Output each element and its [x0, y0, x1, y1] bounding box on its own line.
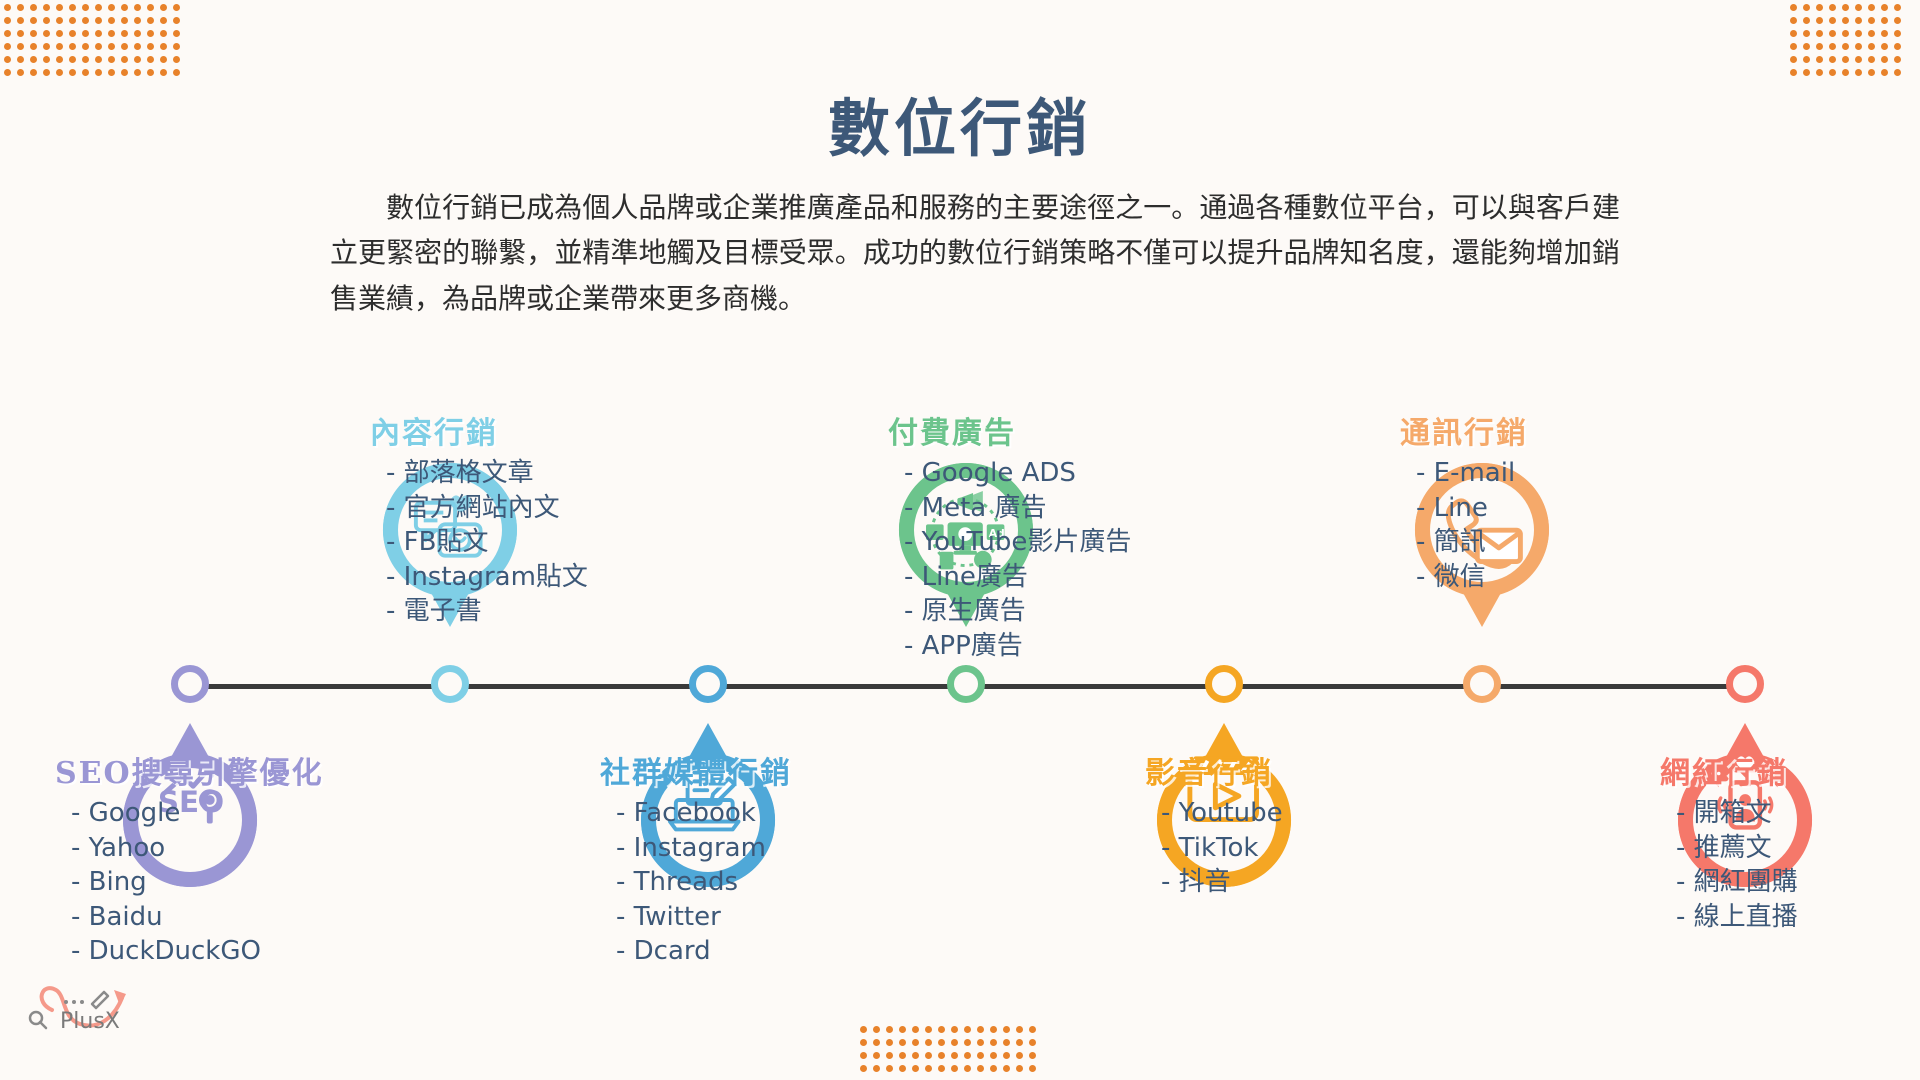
dot — [4, 43, 11, 50]
dot — [899, 1065, 906, 1072]
dot — [938, 1039, 945, 1046]
dot — [43, 17, 50, 24]
list-item: - Instagram貼文 — [386, 560, 588, 595]
timeline-node-content[interactable] — [431, 665, 469, 703]
dot — [1855, 56, 1862, 63]
dot — [95, 17, 102, 24]
dot — [4, 69, 11, 76]
list-item: - 電子書 — [386, 594, 588, 629]
page-title: 數位行銷 — [0, 78, 1920, 168]
list-item: - 部落格文章 — [386, 456, 588, 491]
list-item: - APP廣告 — [904, 629, 1131, 664]
dot — [886, 1039, 893, 1046]
list-item: - Yahoo — [71, 831, 324, 866]
dot — [977, 1026, 984, 1033]
dot — [1894, 4, 1901, 11]
dot — [1829, 56, 1836, 63]
dot — [43, 30, 50, 37]
dot — [1803, 69, 1810, 76]
dot — [121, 43, 128, 50]
dot — [1868, 56, 1875, 63]
dot — [1829, 30, 1836, 37]
dot — [69, 43, 76, 50]
dot — [173, 17, 180, 24]
dot — [30, 30, 37, 37]
channel-heading-social: 社群媒體行銷 — [600, 748, 792, 792]
dot — [1029, 1052, 1036, 1059]
dot — [1894, 17, 1901, 24]
dot — [30, 43, 37, 50]
dot — [964, 1026, 971, 1033]
dot — [4, 17, 11, 24]
dot — [1029, 1039, 1036, 1046]
dot — [147, 17, 154, 24]
dot — [69, 17, 76, 24]
dot — [1803, 17, 1810, 24]
channel-heading-video: 影音行銷 — [1145, 748, 1283, 792]
dot — [977, 1039, 984, 1046]
list-item: - 抖音 — [1161, 865, 1283, 900]
dot — [886, 1065, 893, 1072]
dot — [1790, 56, 1797, 63]
dot-pattern-bottom — [860, 1026, 1060, 1074]
list-item: - Bing — [71, 865, 324, 900]
channel-block-influencer: 網紅行銷- 開箱文- 推薦文- 網紅團購- 線上直播 — [1660, 748, 1798, 934]
dot — [977, 1052, 984, 1059]
dot — [1868, 43, 1875, 50]
dot — [56, 56, 63, 63]
dot — [1029, 1026, 1036, 1033]
dot — [147, 4, 154, 11]
dot — [1016, 1026, 1023, 1033]
dot — [1803, 43, 1810, 50]
dot — [990, 1026, 997, 1033]
dot — [108, 43, 115, 50]
dot — [860, 1039, 867, 1046]
dot — [1842, 43, 1849, 50]
dot — [1868, 4, 1875, 11]
dot — [990, 1039, 997, 1046]
dot — [4, 4, 11, 11]
dot — [1842, 56, 1849, 63]
channel-heading-seo: SEO搜尋引擎優化 — [55, 748, 324, 792]
dot — [964, 1065, 971, 1072]
dot — [134, 43, 141, 50]
dot — [1790, 43, 1797, 50]
list-item: - Youtube — [1161, 796, 1283, 831]
dot — [899, 1039, 906, 1046]
dot — [108, 69, 115, 76]
dot — [1016, 1052, 1023, 1059]
list-item: - 網紅團購 — [1676, 865, 1798, 900]
channel-block-messaging: 通訊行銷- E-mail- Line- 簡訊- 微信 — [1400, 408, 1528, 594]
logo-text: PlusX — [60, 1009, 120, 1034]
dot — [173, 56, 180, 63]
channel-list-influencer: - 開箱文- 推薦文- 網紅團購- 線上直播 — [1660, 796, 1798, 934]
dot — [1855, 30, 1862, 37]
list-item: - Meta 廣告 — [904, 491, 1131, 526]
list-item: - 官方網站內文 — [386, 491, 588, 526]
channel-block-content: 內容行銷- 部落格文章- 官方網站內文- FB貼文- Instagram貼文- … — [370, 408, 588, 629]
list-item: - Dcard — [616, 934, 792, 969]
dot — [912, 1052, 919, 1059]
list-item: - E-mail — [1416, 456, 1528, 491]
dot — [121, 56, 128, 63]
dot — [147, 56, 154, 63]
channel-heading-paid: 付費廣告 — [888, 408, 1131, 452]
dot — [1855, 4, 1862, 11]
dot — [134, 56, 141, 63]
dot — [134, 69, 141, 76]
dot — [56, 30, 63, 37]
list-item: - Line — [1416, 491, 1528, 526]
dot — [173, 4, 180, 11]
dot — [1816, 56, 1823, 63]
dot — [17, 17, 24, 24]
dot — [160, 4, 167, 11]
dot — [95, 43, 102, 50]
dot — [56, 4, 63, 11]
dot — [43, 43, 50, 50]
dot — [147, 69, 154, 76]
dot — [147, 30, 154, 37]
list-item: - Facebook — [616, 796, 792, 831]
dot — [82, 43, 89, 50]
list-item: - Instagram — [616, 831, 792, 866]
dot — [43, 4, 50, 11]
dot — [82, 69, 89, 76]
dot — [1842, 69, 1849, 76]
dot — [1881, 69, 1888, 76]
list-item: - 推薦文 — [1676, 831, 1798, 866]
dot — [1803, 30, 1810, 37]
dot — [1868, 30, 1875, 37]
dot — [160, 30, 167, 37]
dot — [1881, 4, 1888, 11]
dot — [938, 1052, 945, 1059]
channel-list-messaging: - E-mail- Line- 簡訊- 微信 — [1400, 456, 1528, 594]
dot — [1790, 4, 1797, 11]
dot — [82, 4, 89, 11]
dot — [108, 17, 115, 24]
dot — [108, 30, 115, 37]
dot — [1855, 17, 1862, 24]
dot — [1881, 43, 1888, 50]
dot — [173, 30, 180, 37]
intro-paragraph: 數位行銷已成為個人品牌或企業推廣產品和服務的主要途徑之一。通過各種數位平台，可以… — [330, 185, 1620, 321]
dot — [1790, 17, 1797, 24]
dot — [82, 17, 89, 24]
dot — [1003, 1065, 1010, 1072]
dot — [95, 4, 102, 11]
dot — [1894, 56, 1901, 63]
dot — [951, 1026, 958, 1033]
dot — [873, 1052, 880, 1059]
channel-list-social: - Facebook- Instagram- Threads- Twitter-… — [600, 796, 792, 969]
dot — [1790, 69, 1797, 76]
dot — [1816, 30, 1823, 37]
channel-list-video: - Youtube- TikTok- 抖音 — [1145, 796, 1283, 900]
dot — [990, 1065, 997, 1072]
dot — [899, 1052, 906, 1059]
dot — [56, 69, 63, 76]
dot — [1003, 1052, 1010, 1059]
dot — [17, 43, 24, 50]
dot — [30, 56, 37, 63]
dot — [4, 56, 11, 63]
dot — [1868, 69, 1875, 76]
dot — [17, 30, 24, 37]
dot — [95, 56, 102, 63]
dot — [134, 4, 141, 11]
list-item: - Baidu — [71, 900, 324, 935]
dot — [1842, 30, 1849, 37]
dot — [1829, 69, 1836, 76]
dot — [912, 1039, 919, 1046]
plusx-logo: PlusX — [22, 972, 152, 1044]
dot — [134, 17, 141, 24]
dot — [964, 1052, 971, 1059]
dot — [977, 1065, 984, 1072]
dot-pattern-top-right — [1790, 4, 1910, 70]
dot — [69, 30, 76, 37]
list-item: - FB貼文 — [386, 525, 588, 560]
channel-block-paid: 付費廣告- Google ADS- Meta 廣告- YouTube影片廣告- … — [888, 408, 1131, 663]
dot — [147, 43, 154, 50]
dot — [173, 43, 180, 50]
dot — [69, 69, 76, 76]
dot — [886, 1026, 893, 1033]
dot — [1894, 69, 1901, 76]
list-item: - Twitter — [616, 900, 792, 935]
dot — [1816, 69, 1823, 76]
dot — [925, 1052, 932, 1059]
channel-list-content: - 部落格文章- 官方網站內文- FB貼文- Instagram貼文- 電子書 — [370, 456, 588, 629]
dot — [886, 1052, 893, 1059]
dot — [95, 69, 102, 76]
channel-block-social: 社群媒體行銷- Facebook- Instagram- Threads- Tw… — [600, 748, 792, 969]
dot — [43, 69, 50, 76]
dot — [990, 1052, 997, 1059]
dot — [121, 30, 128, 37]
list-item: - 開箱文 — [1676, 796, 1798, 831]
dot-pattern-top-left — [4, 4, 184, 70]
dot — [1790, 30, 1797, 37]
dot — [17, 69, 24, 76]
dot — [1816, 4, 1823, 11]
dot — [160, 17, 167, 24]
dot — [860, 1065, 867, 1072]
dot — [938, 1026, 945, 1033]
channel-list-seo: - Google- Yahoo- Bing- Baidu- DuckDuckGO — [55, 796, 324, 969]
dot — [108, 4, 115, 11]
dot — [1003, 1039, 1010, 1046]
channel-heading-messaging: 通訊行銷 — [1400, 408, 1528, 452]
dot — [56, 17, 63, 24]
dot — [1803, 56, 1810, 63]
dot — [1816, 43, 1823, 50]
dot — [1855, 69, 1862, 76]
dot — [925, 1065, 932, 1072]
dot — [17, 56, 24, 63]
dot — [1881, 17, 1888, 24]
dot — [43, 56, 50, 63]
dot — [912, 1026, 919, 1033]
dot — [108, 56, 115, 63]
list-item: - 線上直播 — [1676, 900, 1798, 935]
list-item: - Line廣告 — [904, 560, 1131, 595]
dot — [1816, 17, 1823, 24]
dot — [30, 69, 37, 76]
timeline-node-paid[interactable] — [947, 665, 985, 703]
list-item: - TikTok — [1161, 831, 1283, 866]
dot — [4, 30, 11, 37]
dot — [1842, 17, 1849, 24]
dot — [951, 1052, 958, 1059]
channel-block-video: 影音行銷- Youtube- TikTok- 抖音 — [1145, 748, 1283, 900]
dot — [1829, 4, 1836, 11]
dot — [1855, 43, 1862, 50]
dot — [873, 1039, 880, 1046]
dot — [1016, 1039, 1023, 1046]
dot — [899, 1026, 906, 1033]
dot — [95, 30, 102, 37]
list-item: - Google ADS — [904, 456, 1131, 491]
list-item: - 微信 — [1416, 560, 1528, 595]
timeline-node-influencer[interactable] — [1726, 665, 1764, 703]
dot — [873, 1026, 880, 1033]
dot — [1829, 17, 1836, 24]
dot — [82, 56, 89, 63]
dot — [1894, 30, 1901, 37]
dot — [173, 69, 180, 76]
list-item: - 原生廣告 — [904, 594, 1131, 629]
channel-list-paid: - Google ADS- Meta 廣告- YouTube影片廣告- Line… — [888, 456, 1131, 663]
list-item: - Threads — [616, 865, 792, 900]
dot — [17, 4, 24, 11]
dot — [925, 1026, 932, 1033]
timeline-node-video[interactable] — [1205, 665, 1243, 703]
dot — [1029, 1065, 1036, 1072]
dot — [160, 69, 167, 76]
dot — [1842, 4, 1849, 11]
dot — [30, 17, 37, 24]
dot — [1868, 17, 1875, 24]
dot — [69, 4, 76, 11]
dot — [1894, 43, 1901, 50]
dot — [1003, 1026, 1010, 1033]
dot — [912, 1065, 919, 1072]
dot — [873, 1065, 880, 1072]
dot — [121, 4, 128, 11]
channel-heading-content: 內容行銷 — [370, 408, 588, 452]
dot — [1881, 30, 1888, 37]
dot — [121, 69, 128, 76]
list-item: - YouTube影片廣告 — [904, 525, 1131, 560]
timeline-node-social[interactable] — [689, 665, 727, 703]
dot — [860, 1026, 867, 1033]
dot — [951, 1039, 958, 1046]
dot — [1803, 4, 1810, 11]
timeline-node-seo[interactable] — [171, 665, 209, 703]
dot — [30, 4, 37, 11]
dot — [938, 1065, 945, 1072]
dot — [160, 56, 167, 63]
list-item: - DuckDuckGO — [71, 934, 324, 969]
channel-heading-influencer: 網紅行銷 — [1660, 748, 1798, 792]
dot — [121, 17, 128, 24]
list-item: - 簡訊 — [1416, 525, 1528, 560]
channel-block-seo: SEO搜尋引擎優化- Google- Yahoo- Bing- Baidu- D… — [55, 748, 324, 969]
dot — [925, 1039, 932, 1046]
dot — [1881, 56, 1888, 63]
dot — [951, 1065, 958, 1072]
dot — [134, 30, 141, 37]
dot — [964, 1039, 971, 1046]
dot — [69, 56, 76, 63]
dot — [56, 43, 63, 50]
dot — [1829, 43, 1836, 50]
dot — [160, 43, 167, 50]
dot — [1016, 1065, 1023, 1072]
timeline-node-messaging[interactable] — [1463, 665, 1501, 703]
dot — [82, 30, 89, 37]
dot — [860, 1052, 867, 1059]
list-item: - Google — [71, 796, 324, 831]
